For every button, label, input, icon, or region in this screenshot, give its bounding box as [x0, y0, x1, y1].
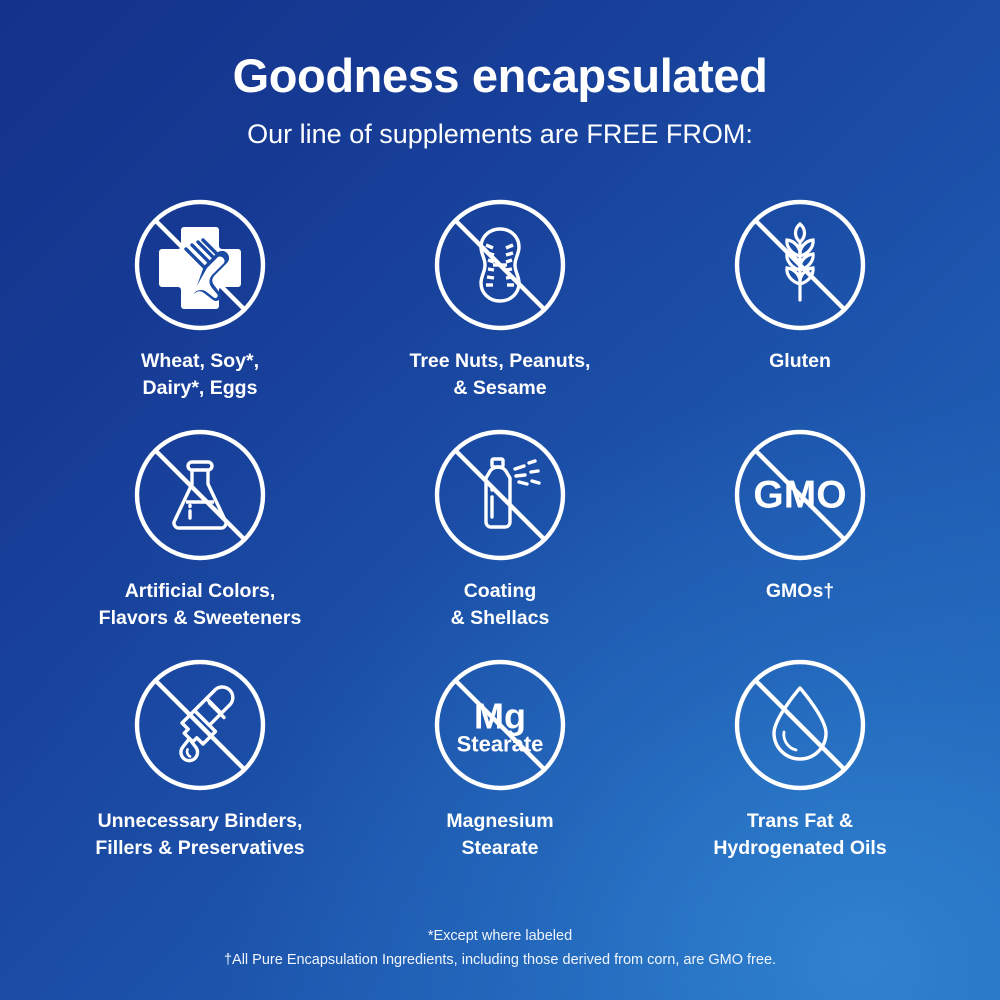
badge-caption: GMOs†: [700, 578, 900, 605]
badge-item-artificial: Artificial Colors, Flavors & Sweeteners: [50, 426, 350, 656]
badge-caption: Wheat, Soy*, Dairy*, Eggs: [55, 348, 345, 402]
no-allergen-cross-fork-icon: [131, 196, 269, 334]
badge-item-magnesium-stearate: Mg Stearate Magnesium Stearate: [350, 656, 650, 886]
no-flask-icon: [131, 426, 269, 564]
badge-item-allergens: Wheat, Soy*, Dairy*, Eggs: [50, 196, 350, 426]
no-peanut-icon: [431, 196, 569, 334]
footnotes: *Except where labeled †All Pure Encapsul…: [0, 925, 1000, 972]
badge-item-trans-fat: Trans Fat & Hydrogenated Oils: [650, 656, 950, 886]
badge-item-binders: Unnecessary Binders, Fillers & Preservat…: [50, 656, 350, 886]
footnote-dagger: †All Pure Encapsulation Ingredients, inc…: [0, 949, 1000, 972]
badge-caption: Tree Nuts, Peanuts, & Sesame: [355, 348, 645, 402]
page-subtitle: Our line of supplements are FREE FROM:: [0, 102, 1000, 150]
no-wheat-stalk-icon: [731, 196, 869, 334]
header: Goodness encapsulated Our line of supple…: [0, 0, 1000, 149]
badge-item-gluten: Gluten: [650, 196, 950, 426]
badge-item-gmo: GMO GMOs†: [650, 426, 950, 656]
no-spray-can-icon: [431, 426, 569, 564]
free-from-grid: Wheat, Soy*, Dairy*, Eggs: [50, 196, 950, 886]
mg-inner-text: Mg: [474, 696, 526, 737]
no-magnesium-stearate-icon: Mg Stearate: [431, 656, 569, 794]
badge-caption: Unnecessary Binders, Fillers & Preservat…: [55, 808, 345, 862]
no-oil-droplet-icon: [731, 656, 869, 794]
badge-caption: Trans Fat & Hydrogenated Oils: [655, 808, 945, 862]
badge-item-coating: Coating & Shellacs: [350, 426, 650, 656]
stearate-inner-text: Stearate: [457, 732, 544, 757]
gmo-inner-text: GMO: [753, 474, 846, 517]
footnote-asterisk: *Except where labeled: [0, 925, 1000, 948]
page-title: Goodness encapsulated: [0, 0, 1000, 102]
no-dropper-icon: [131, 656, 269, 794]
badge-caption: Artificial Colors, Flavors & Sweeteners: [55, 578, 345, 632]
badge-caption: Magnesium Stearate: [400, 808, 600, 862]
badge-caption: Coating & Shellacs: [355, 578, 645, 632]
badge-caption: Gluten: [655, 348, 945, 375]
no-gmo-icon: GMO: [731, 426, 869, 564]
poster-canvas: Goodness encapsulated Our line of supple…: [0, 0, 1000, 1000]
badge-item-nuts: Tree Nuts, Peanuts, & Sesame: [350, 196, 650, 426]
